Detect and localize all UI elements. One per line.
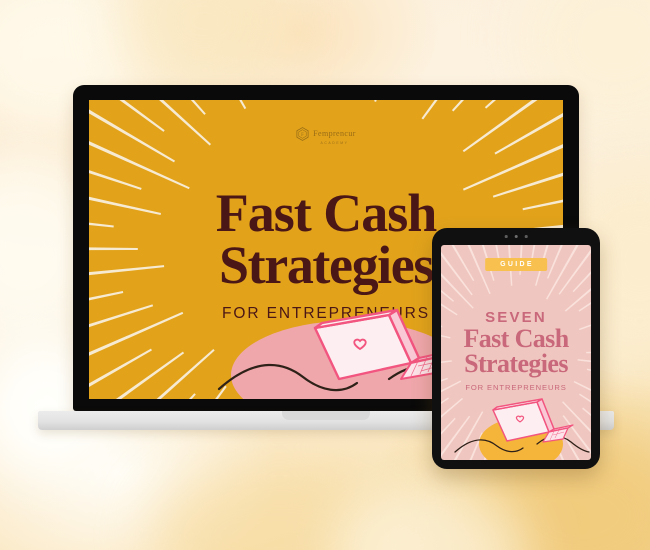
tablet-illustration xyxy=(441,382,591,460)
tablet-device: GUIDE SEVEN Fast Cash Strategies FOR ENT… xyxy=(432,228,600,469)
tablet-title-line-1: Fast Cash xyxy=(441,326,591,351)
mockup-stage: F Femprencur ACADEMY Fast Cash Strategie… xyxy=(0,0,650,550)
guide-badge: GUIDE xyxy=(485,258,547,271)
camera-dot xyxy=(514,235,517,238)
brand-name-wrap: Femprencur ACADEMY xyxy=(313,123,356,145)
brand-name: Femprencur xyxy=(313,129,356,138)
tablet-camera-sensors xyxy=(505,235,528,238)
laptop-hinge-notch xyxy=(282,411,370,420)
tablet-headline-block: SEVEN Fast Cash Strategies FOR ENTREPREN… xyxy=(441,309,591,392)
brand-tagline: ACADEMY xyxy=(313,141,356,145)
sensor-dot xyxy=(505,235,508,238)
tablet-title-line-2: Strategies xyxy=(441,351,591,376)
svg-text:F: F xyxy=(301,133,304,138)
sensor-dot xyxy=(525,235,528,238)
brand-logo: F Femprencur ACADEMY xyxy=(89,123,563,145)
tablet-screen: GUIDE SEVEN Fast Cash Strategies FOR ENT… xyxy=(441,245,591,460)
hexagon-f-logo-icon: F xyxy=(296,127,309,141)
